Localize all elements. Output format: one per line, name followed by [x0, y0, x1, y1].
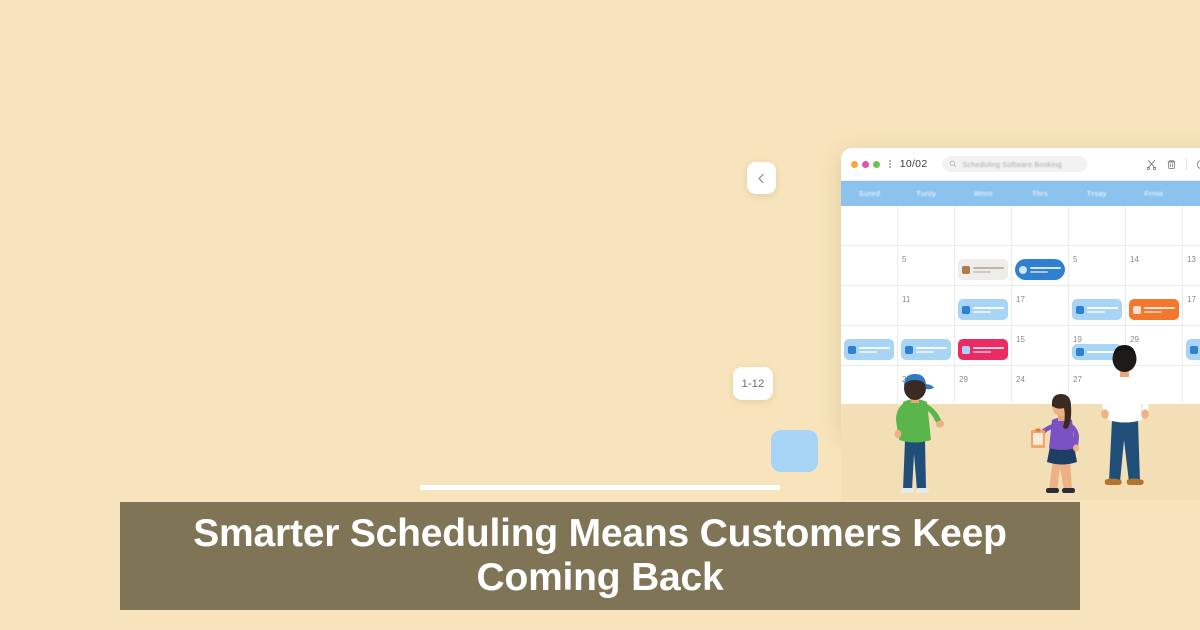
calendar-day-cell[interactable] — [1183, 206, 1200, 245]
window-close-button[interactable] — [851, 161, 858, 168]
event-icon — [848, 346, 856, 354]
search-input[interactable]: Scheduling Software Booking — [942, 156, 1087, 172]
calendar-event[interactable] — [958, 299, 1008, 320]
calendar-day-cell[interactable]: 5 — [898, 246, 955, 285]
weekday-1: Tunty — [898, 181, 955, 206]
event-icon — [1133, 306, 1141, 314]
day-number: 5 — [1073, 255, 1077, 264]
calendar-event[interactable] — [958, 339, 1008, 360]
trash-icon[interactable] — [1166, 159, 1177, 170]
search-placeholder: Scheduling Software Booking — [962, 160, 1061, 169]
calendar-day-cell[interactable]: 5 — [1069, 246, 1126, 285]
event-icon — [905, 346, 913, 354]
day-number: 13 — [1187, 255, 1196, 264]
calendar-day-cell[interactable] — [1183, 326, 1200, 365]
day-number: 29 — [959, 375, 968, 384]
clock-icon[interactable] — [1196, 159, 1200, 170]
calendar-event[interactable] — [844, 339, 894, 360]
weekday-4: Trsay — [1068, 181, 1125, 206]
date-range-chip[interactable]: 1-12 — [733, 367, 773, 400]
toolbar-divider — [1186, 158, 1187, 170]
man-in-white-shirt — [1092, 344, 1158, 500]
title-banner: Smarter Scheduling Means Customers Keep … — [120, 502, 1080, 610]
event-icon — [1076, 348, 1084, 356]
blue-accent-tile — [771, 430, 818, 472]
event-label — [1030, 267, 1061, 273]
event-icon — [962, 266, 970, 274]
calendar-day-cell[interactable] — [955, 246, 1012, 285]
window-minimize-button[interactable] — [862, 161, 869, 168]
browser-toolbar — [1146, 158, 1200, 170]
calendar-day-cell[interactable] — [1069, 286, 1126, 325]
calendar-day-cell[interactable] — [898, 326, 955, 365]
day-number: 29 — [1130, 335, 1139, 344]
window-maximize-button[interactable] — [873, 161, 880, 168]
date-range-label: 1-12 — [742, 378, 765, 390]
calendar-event[interactable] — [1072, 299, 1122, 320]
calendar-day-cell[interactable] — [841, 286, 898, 325]
calendar-day-cell[interactable] — [1183, 366, 1200, 406]
calendar-week-row: 5 5 14 13 — [841, 246, 1200, 286]
calendar-day-cell[interactable]: 15 — [1012, 326, 1069, 365]
calendar-day-cell[interactable] — [1069, 206, 1126, 245]
chevron-left-icon — [756, 173, 767, 184]
search-icon — [949, 160, 957, 168]
weekday-5: Frnio — [1125, 181, 1182, 206]
event-label — [973, 267, 1004, 273]
browser-titlebar: 10/02 Scheduling Software Booking — [841, 148, 1200, 181]
calendar-day-cell[interactable] — [955, 206, 1012, 245]
calendar-week-row — [841, 206, 1200, 246]
page-title: Smarter Scheduling Means Customers Keep … — [130, 512, 1070, 600]
weekday-2: Wnnt — [955, 181, 1012, 206]
day-number: 27 — [1073, 375, 1082, 384]
woman-with-clipboard — [1031, 392, 1093, 500]
event-label — [973, 347, 1004, 353]
weekday-3: Thrs — [1012, 181, 1069, 206]
day-number: 17 — [1187, 295, 1196, 304]
event-label — [973, 307, 1004, 313]
day-number: 17 — [1016, 295, 1025, 304]
title-divider-rule — [420, 485, 780, 490]
event-label — [916, 347, 947, 353]
kebab-menu-icon[interactable] — [889, 160, 891, 168]
calendar-event[interactable] — [901, 339, 951, 360]
person-with-cap — [880, 368, 950, 500]
event-icon — [1076, 306, 1084, 314]
calendar-day-cell[interactable] — [1126, 206, 1183, 245]
calendar-day-cell[interactable] — [1012, 246, 1069, 285]
calendar-day-cell[interactable]: 11 — [898, 286, 955, 325]
current-date-label: 10/02 — [900, 158, 928, 170]
day-number: 15 — [1016, 335, 1025, 344]
calendar-back-button[interactable] — [747, 162, 776, 194]
weekday-0: Sunrd — [841, 181, 898, 206]
calendar-day-cell[interactable] — [955, 286, 1012, 325]
event-label — [1087, 307, 1118, 313]
calendar-event[interactable] — [1015, 259, 1065, 280]
calendar-day-cell[interactable] — [1012, 206, 1069, 245]
calendar-event[interactable] — [1186, 339, 1200, 360]
day-number: 14 — [1130, 255, 1139, 264]
calendar-day-cell[interactable]: 17 — [1012, 286, 1069, 325]
calendar-event[interactable] — [958, 259, 1008, 280]
calendar-day-cell[interactable] — [841, 206, 898, 245]
calendar-day-cell[interactable]: 13 — [1183, 246, 1200, 285]
weekday-6: Taty — [1182, 181, 1200, 206]
day-number: 5 — [902, 255, 906, 264]
event-label — [1144, 307, 1175, 313]
event-icon — [962, 346, 970, 354]
window-controls[interactable] — [851, 161, 880, 168]
calendar-day-cell[interactable] — [955, 326, 1012, 365]
day-number: 19 — [1073, 335, 1082, 344]
calendar-day-cell[interactable]: 14 — [1126, 246, 1183, 285]
calendar-day-cell[interactable] — [841, 246, 898, 285]
calendar-day-cell[interactable]: 17 — [1183, 286, 1200, 325]
event-icon — [1019, 266, 1027, 274]
day-number: 24 — [1016, 375, 1025, 384]
day-number: 11 — [902, 295, 910, 304]
event-icon — [1190, 346, 1198, 354]
event-label — [859, 347, 890, 353]
event-icon — [962, 306, 970, 314]
calendar-day-cell[interactable] — [898, 206, 955, 245]
calendar-weekday-header: Sunrd Tunty Wnnt Thrs Trsay Frnio Taty — [841, 181, 1200, 206]
calendar-day-cell[interactable] — [841, 326, 898, 365]
scissors-icon[interactable] — [1146, 159, 1157, 170]
calendar-day-cell[interactable]: 29 — [955, 366, 1012, 406]
calendar-day-cell[interactable] — [1126, 286, 1183, 325]
calendar-event[interactable] — [1129, 299, 1179, 320]
calendar-week-row: 11 17 17 — [841, 286, 1200, 326]
